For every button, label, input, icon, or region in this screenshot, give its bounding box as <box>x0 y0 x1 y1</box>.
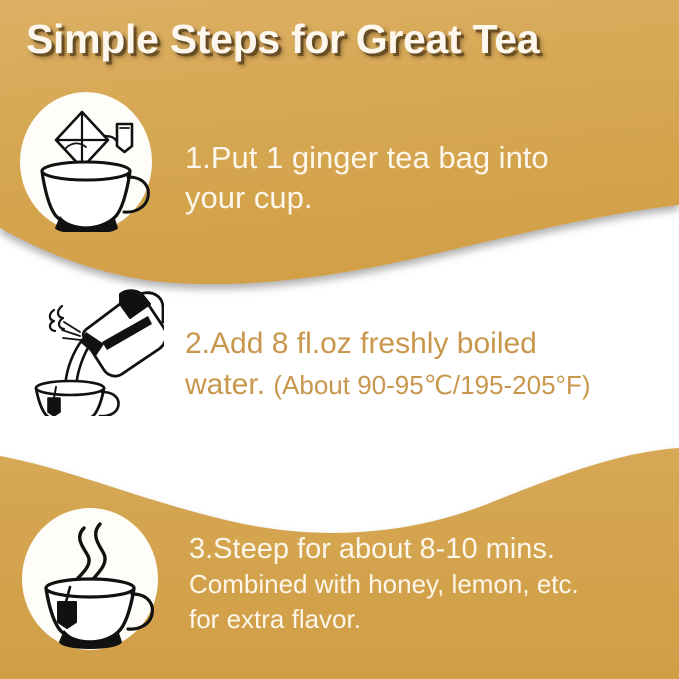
page-title: Simple Steps for Great Tea <box>26 16 539 63</box>
step-2-icon-wrap <box>24 288 164 416</box>
step-3-line-2: Combined with honey, lemon, etc. <box>189 567 579 602</box>
step-2: 2.Add 8 fl.oz freshly boiled water. (Abo… <box>24 288 164 416</box>
step-3: 3.Steep for about 8-10 mins. Combined wi… <box>22 508 158 650</box>
kettle-pouring-into-cup-icon <box>24 288 164 416</box>
step-3-line-1: 3.Steep for about 8-10 mins. <box>189 532 579 567</box>
step-3-line-3: for extra flavor. <box>189 602 579 637</box>
step-1-text: 1.Put 1 ginger tea bag into your cup. <box>185 138 549 218</box>
tea-brewing-infographic: Simple Steps for Great Tea <box>0 0 679 679</box>
step-3-text: 3.Steep for about 8-10 mins. Combined wi… <box>189 532 579 637</box>
teabag-into-cup-icon <box>20 92 152 232</box>
step-2-temperature-note: (About 90-95℃/195-205°F) <box>273 370 590 400</box>
step-1: 1.Put 1 ginger tea bag into your cup. <box>20 92 152 232</box>
step-3-icon-wrap <box>22 508 158 650</box>
step-2-line-2: water. (About 90-95℃/195-205°F) <box>185 364 590 406</box>
step-2-line-2-main: water. <box>185 368 273 401</box>
step-1-line-2: your cup. <box>185 178 549 218</box>
steaming-cup-icon <box>22 508 158 650</box>
step-1-icon-wrap <box>20 92 152 232</box>
step-2-line-1: 2.Add 8 fl.oz freshly boiled <box>185 323 590 364</box>
step-1-line-1: 1.Put 1 ginger tea bag into <box>185 138 549 178</box>
step-2-text: 2.Add 8 fl.oz freshly boiled water. (Abo… <box>185 323 590 406</box>
